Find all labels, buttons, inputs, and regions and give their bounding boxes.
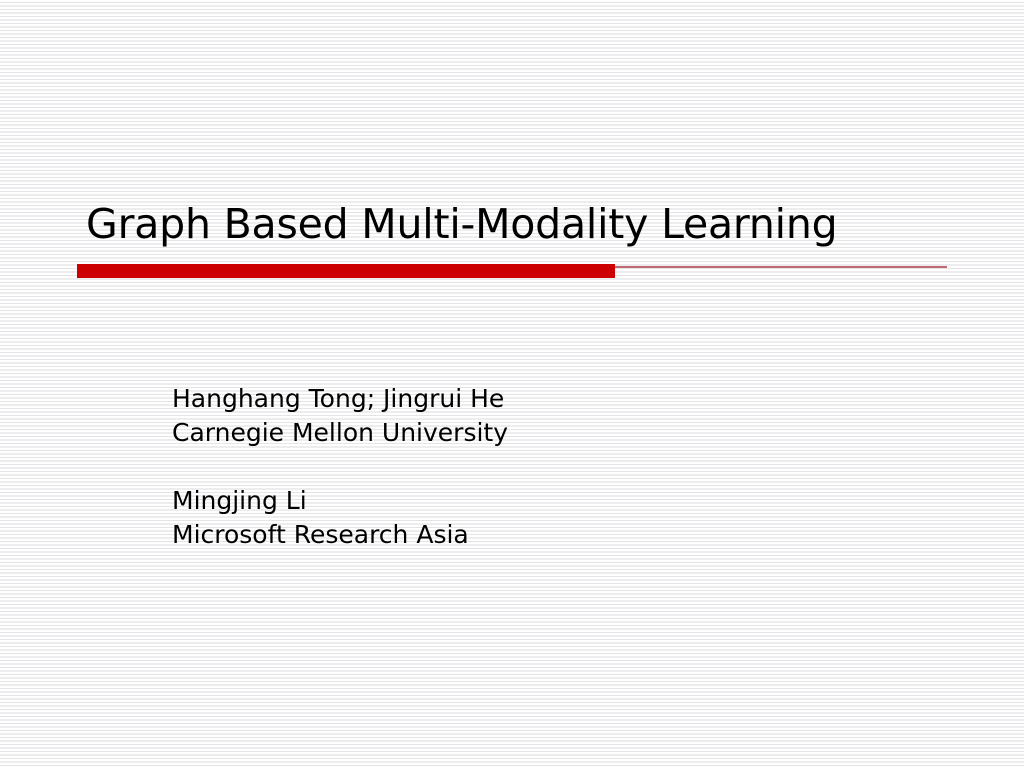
page-title: Graph Based Multi-Modality Learning	[77, 196, 957, 252]
author-affiliation-block: Hanghang Tong; Jingrui He Carnegie Mello…	[172, 382, 872, 552]
body-blank-line	[172, 450, 872, 484]
title-underline-rule	[77, 262, 947, 280]
presentation-slide: Graph Based Multi-Modality Learning Hang…	[0, 0, 1024, 768]
affiliation-line-research-lab: Microsoft Research Asia	[172, 518, 872, 552]
affiliation-line-university: Carnegie Mellon University	[172, 416, 872, 450]
title-rule-thick-bar	[77, 264, 615, 278]
author-line-second: Mingjing Li	[172, 484, 872, 518]
author-line-presenters: Hanghang Tong; Jingrui He	[172, 382, 872, 416]
title-block: Graph Based Multi-Modality Learning	[77, 196, 957, 252]
